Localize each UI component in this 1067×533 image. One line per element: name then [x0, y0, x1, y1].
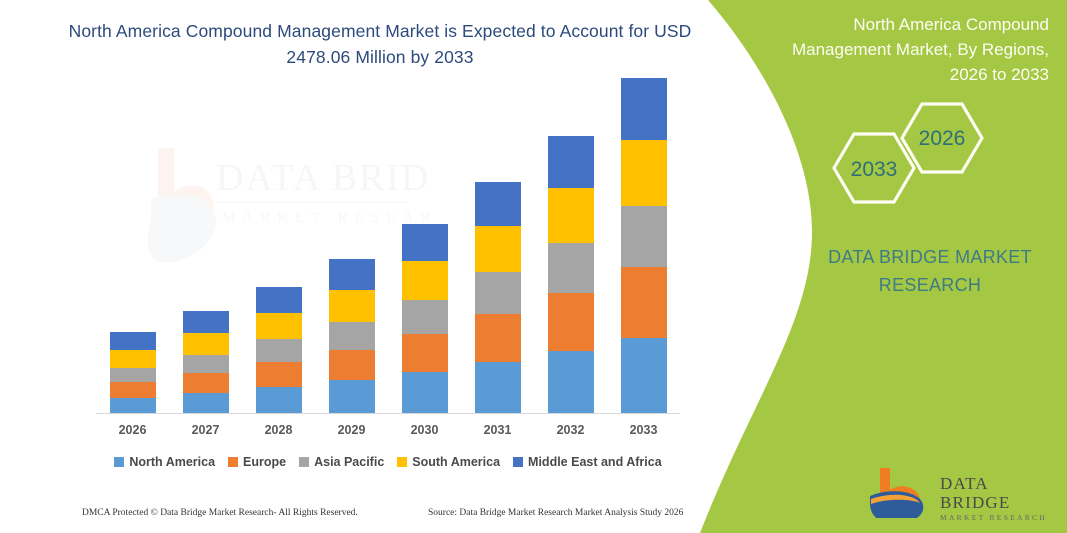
bar-segment[interactable]	[110, 382, 156, 398]
x-axis-tick-label: 2029	[322, 423, 382, 437]
bar-group[interactable]	[183, 311, 229, 414]
legend-swatch-icon	[114, 457, 124, 467]
legend-label: Europe	[243, 455, 286, 469]
bar-segment[interactable]	[329, 380, 375, 414]
bar-group[interactable]	[475, 182, 521, 414]
bar-segment[interactable]	[256, 339, 302, 362]
stacked-bar-chart-plot	[96, 120, 680, 414]
bar-segment[interactable]	[110, 368, 156, 382]
bar-segment[interactable]	[475, 182, 521, 226]
x-axis-tick-label: 2027	[176, 423, 236, 437]
logo-sub-text: MARKET RESEARCH	[940, 512, 1060, 524]
bar-segment[interactable]	[183, 355, 229, 373]
bar-segment[interactable]	[548, 136, 594, 188]
bar-segment[interactable]	[329, 350, 375, 380]
bar-segment[interactable]	[110, 332, 156, 350]
bar-segment[interactable]	[256, 362, 302, 387]
legend-item[interactable]: Middle East and Africa	[513, 455, 662, 469]
bar-segment[interactable]	[183, 311, 229, 333]
panel-brand-line2: RESEARCH	[805, 271, 1055, 299]
bar-segment[interactable]	[329, 290, 375, 322]
x-axis-tick-label: 2032	[541, 423, 601, 437]
bar-segment[interactable]	[548, 243, 594, 293]
x-axis-line	[96, 413, 680, 414]
bar-segment[interactable]	[402, 372, 448, 414]
bar-segment[interactable]	[475, 226, 521, 272]
bar-segment[interactable]	[183, 393, 229, 414]
hexagon-2033-label: 2033	[851, 158, 898, 181]
legend-item[interactable]: Europe	[228, 455, 286, 469]
bar-group[interactable]	[256, 287, 302, 414]
legend-swatch-icon	[513, 457, 523, 467]
legend-label: North America	[129, 455, 215, 469]
bar-segment[interactable]	[548, 188, 594, 243]
x-axis-tick-label: 2028	[249, 423, 309, 437]
bar-segment[interactable]	[110, 398, 156, 414]
bar-segment[interactable]	[256, 313, 302, 339]
hexagon-year-badges: 2026 2033	[822, 98, 1002, 210]
bar-segment[interactable]	[402, 300, 448, 334]
bar-segment[interactable]	[621, 338, 667, 414]
legend-swatch-icon	[299, 457, 309, 467]
bar-segment[interactable]	[621, 140, 667, 206]
bar-segment[interactable]	[621, 78, 667, 140]
panel-brand-line1: DATA BRIDGE MARKET	[805, 243, 1055, 271]
bar-segment[interactable]	[475, 272, 521, 314]
bar-group[interactable]	[110, 332, 156, 414]
panel-title: North America Compound Management Market…	[764, 12, 1049, 87]
bar-segment[interactable]	[621, 206, 667, 267]
legend-swatch-icon	[228, 457, 238, 467]
legend-label: Asia Pacific	[314, 455, 384, 469]
x-axis-tick-label: 2031	[468, 423, 528, 437]
bar-segment[interactable]	[183, 333, 229, 355]
bar-segment[interactable]	[256, 287, 302, 313]
bar-segment[interactable]	[548, 351, 594, 414]
legend-label: Middle East and Africa	[528, 455, 662, 469]
bar-segment[interactable]	[621, 267, 667, 338]
x-axis-tick-label: 2033	[614, 423, 674, 437]
databridge-logo-text: DATA BRIDGE MARKET RESEARCH	[940, 474, 1060, 524]
infographic-canvas: North America Compound Management Market…	[0, 0, 1067, 533]
bar-group[interactable]	[402, 224, 448, 414]
bar-segment[interactable]	[256, 387, 302, 414]
chart-legend: North AmericaEuropeAsia PacificSouth Ame…	[96, 455, 680, 469]
hexagon-2026-label: 2026	[919, 127, 966, 150]
bar-group[interactable]	[548, 136, 594, 414]
bar-segment[interactable]	[475, 362, 521, 414]
legend-swatch-icon	[397, 457, 407, 467]
legend-label: South America	[412, 455, 500, 469]
panel-brand-text: DATA BRIDGE MARKET RESEARCH	[805, 243, 1055, 299]
x-axis-tick-label: 2026	[103, 423, 163, 437]
bar-segment[interactable]	[475, 314, 521, 362]
bar-segment[interactable]	[402, 334, 448, 372]
bar-segment[interactable]	[402, 261, 448, 300]
bar-segment[interactable]	[329, 259, 375, 290]
bar-segment[interactable]	[548, 293, 594, 351]
bar-segment[interactable]	[183, 373, 229, 393]
legend-item[interactable]: South America	[397, 455, 500, 469]
bar-segment[interactable]	[402, 224, 448, 261]
bar-group[interactable]	[621, 78, 667, 414]
bar-group[interactable]	[329, 259, 375, 414]
page-title: North America Compound Management Market…	[60, 18, 700, 70]
legend-item[interactable]: North America	[114, 455, 215, 469]
bar-segment[interactable]	[329, 322, 375, 350]
source-notice: Source: Data Bridge Market Research Mark…	[428, 508, 683, 518]
x-axis-tick-label: 2030	[395, 423, 455, 437]
legend-item[interactable]: Asia Pacific	[299, 455, 384, 469]
copyright-notice: DMCA Protected © Data Bridge Market Rese…	[82, 508, 358, 518]
logo-main-text: DATA BRIDGE	[940, 474, 1060, 512]
x-axis-labels: 20262027202820292030203120322033	[96, 420, 680, 442]
bar-segment[interactable]	[110, 350, 156, 368]
